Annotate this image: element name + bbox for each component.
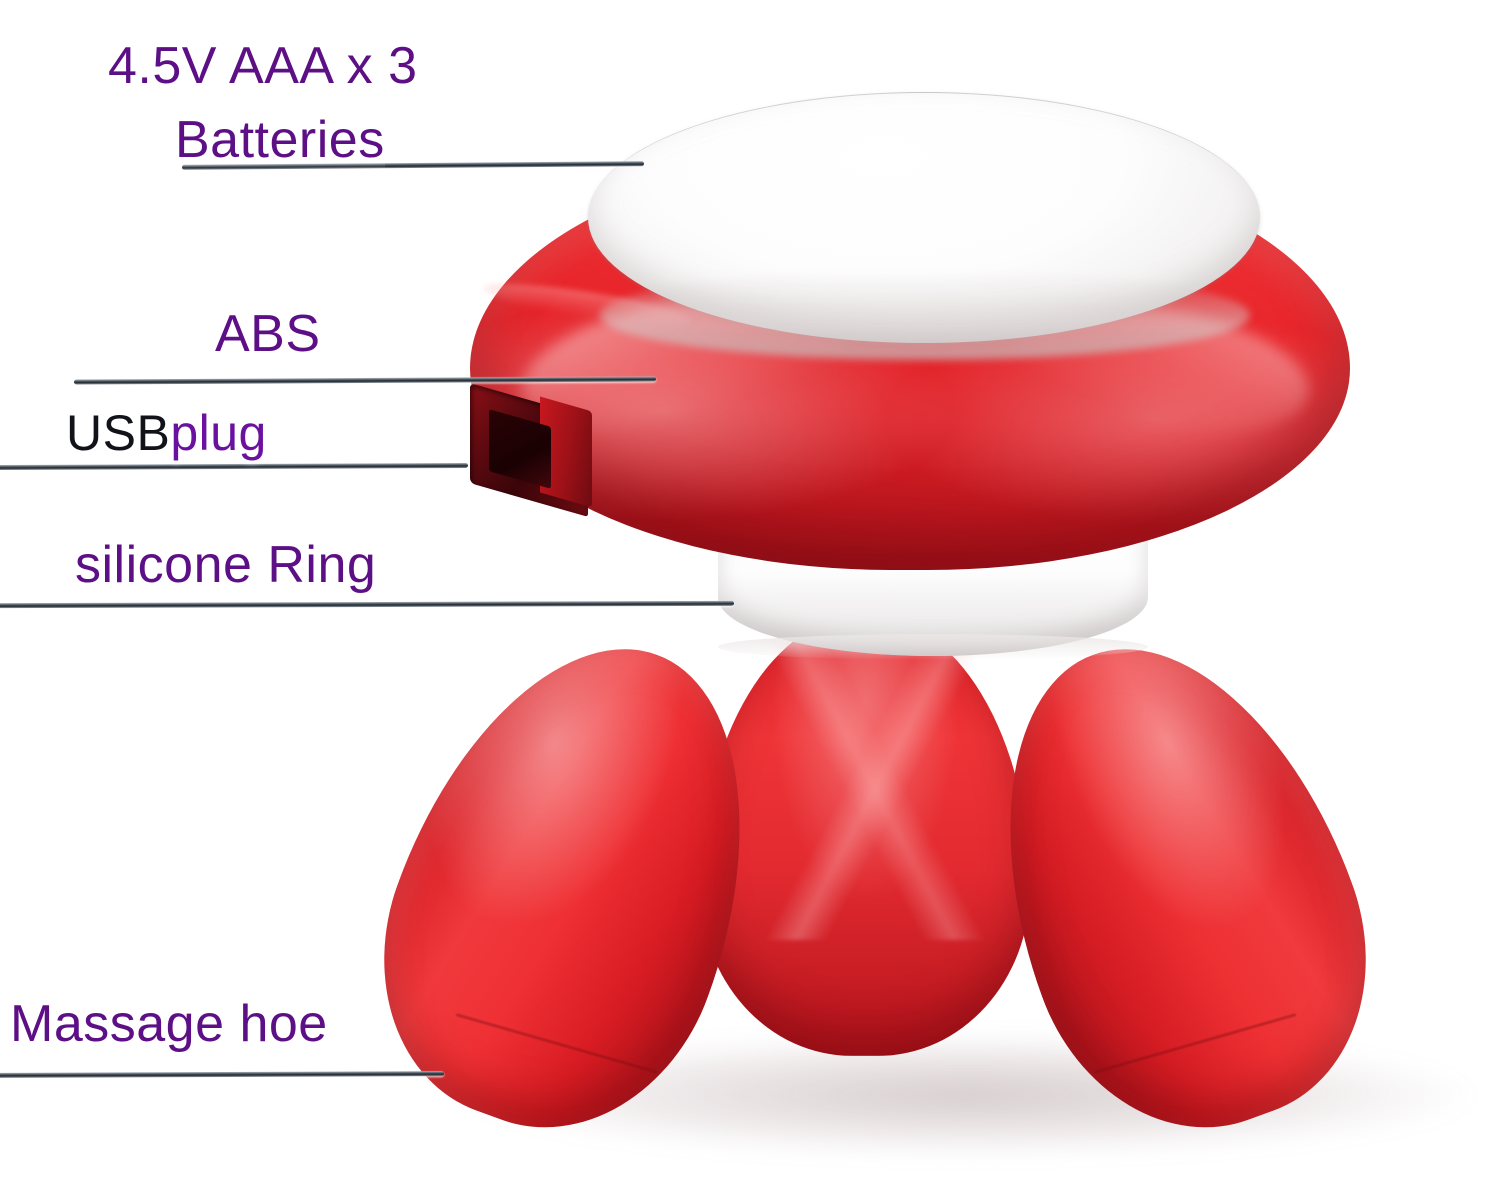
label-silicone-ring: silicone Ring bbox=[75, 535, 376, 595]
label-batteries-line1: 4.5V AAA x 3 bbox=[108, 36, 418, 96]
label-plug-word: plug bbox=[170, 405, 267, 461]
label-massage-hoe: Massage hoe bbox=[10, 994, 328, 1054]
label-usb-word: USB bbox=[66, 405, 170, 461]
product-annotation-image: 4.5V AAA x 3 Batteries ABS USBplug silic… bbox=[0, 0, 1500, 1188]
label-batteries-line2: Batteries bbox=[175, 110, 385, 170]
label-abs: ABS bbox=[215, 304, 321, 364]
legs-junction-crease bbox=[690, 640, 1060, 940]
label-usb-plug: USBplug bbox=[66, 404, 267, 462]
cap-seat-shadow bbox=[600, 270, 1250, 360]
